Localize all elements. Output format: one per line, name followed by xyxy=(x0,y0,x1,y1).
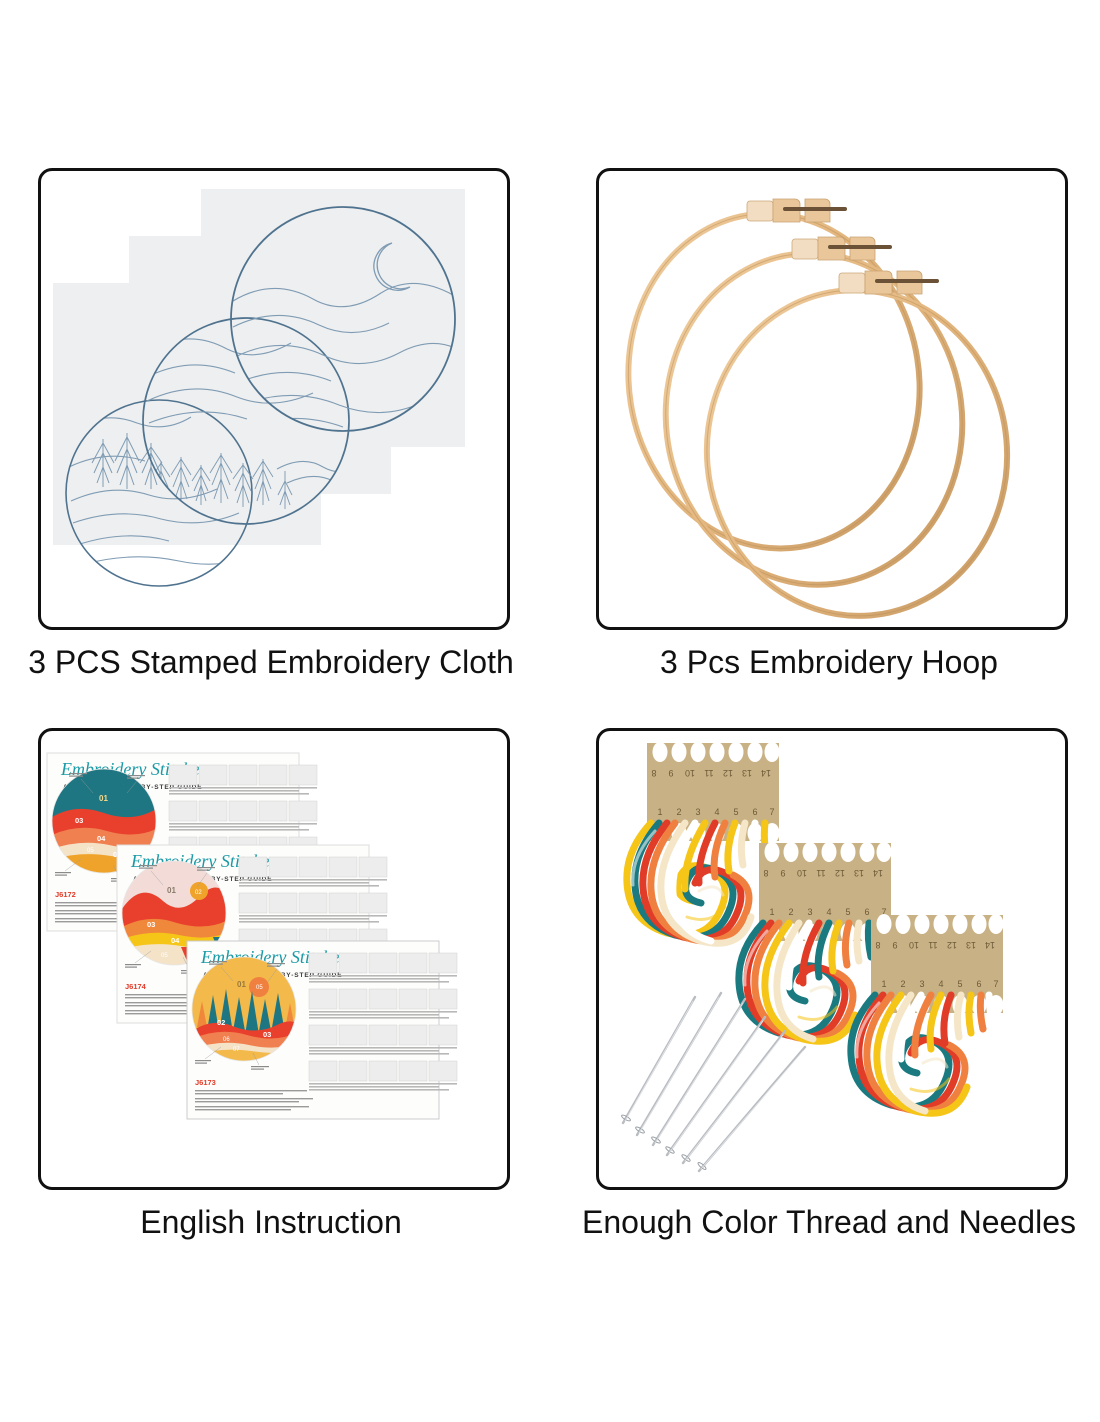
caption-stamped-cloth: 3 PCS Stamped Embroidery Cloth xyxy=(11,644,531,681)
caption-embroidery-hoop: 3 Pcs Embroidery Hoop xyxy=(569,644,1089,681)
feature-cell-thread-and-needles: 141312 11109 8 123 456 7 xyxy=(596,728,1100,1241)
svg-text:05: 05 xyxy=(87,848,94,854)
svg-text:03: 03 xyxy=(75,816,83,825)
sheet-code-3: J6173 xyxy=(195,1078,216,1087)
svg-text:04: 04 xyxy=(97,834,106,843)
panel-english-instruction: Embroidery Stitches A COMPLETE STEP-BY-S… xyxy=(38,728,510,1190)
feature-cell-embroidery-hoop: 3 Pcs Embroidery Hoop xyxy=(596,168,1089,681)
svg-text:06: 06 xyxy=(223,1037,230,1043)
svg-text:05: 05 xyxy=(161,953,168,959)
svg-text:02: 02 xyxy=(217,1018,225,1027)
svg-text:01: 01 xyxy=(237,980,246,989)
thread-card-1 xyxy=(627,742,780,943)
product-feature-sheet: 3 PCS Stamped Embroidery Cloth xyxy=(0,0,1100,1422)
svg-text:05: 05 xyxy=(256,985,263,991)
sheet-code-1: J6172 xyxy=(55,890,76,899)
floss-skein-3 xyxy=(851,995,993,1113)
svg-text:01: 01 xyxy=(167,886,176,895)
sheet-code-2: J6174 xyxy=(125,982,147,991)
svg-text:03: 03 xyxy=(147,920,155,929)
svg-text:04: 04 xyxy=(171,936,180,945)
caption-thread-and-needles: Enough Color Thread and Needles xyxy=(549,1204,1100,1241)
instruction-sheets-illustration: Embroidery Stitches A COMPLETE STEP-BY-S… xyxy=(41,731,507,1187)
panel-embroidery-hoop xyxy=(596,168,1068,630)
stamped-cloth-illustration xyxy=(41,171,507,627)
hoop-3 xyxy=(693,271,1020,621)
svg-text:02: 02 xyxy=(195,890,202,896)
embroidery-hoop-illustration xyxy=(599,171,1065,627)
hoop-1 xyxy=(605,192,944,569)
thread-card-3 xyxy=(851,914,1004,1113)
instruction-sheet-3: Embroidery Stitches A COMPLETE STEP-BY-S… xyxy=(187,941,457,1119)
floss-skein-1 xyxy=(627,823,767,943)
feature-grid: 3 PCS Stamped Embroidery Cloth xyxy=(0,0,1100,1422)
caption-english-instruction: English Instruction xyxy=(38,1204,504,1241)
svg-text:07: 07 xyxy=(233,1047,240,1053)
feature-cell-stamped-cloth: 3 PCS Stamped Embroidery Cloth xyxy=(38,168,531,681)
svg-text:01: 01 xyxy=(99,794,108,803)
thread-needles-illustration: 141312 11109 8 123 456 7 xyxy=(599,731,1065,1187)
panel-thread-and-needles: 141312 11109 8 123 456 7 xyxy=(596,728,1068,1190)
feature-cell-english-instruction: Embroidery Stitches A COMPLETE STEP-BY-S… xyxy=(38,728,510,1241)
svg-text:03: 03 xyxy=(263,1030,271,1039)
panel-stamped-cloth xyxy=(38,168,510,630)
